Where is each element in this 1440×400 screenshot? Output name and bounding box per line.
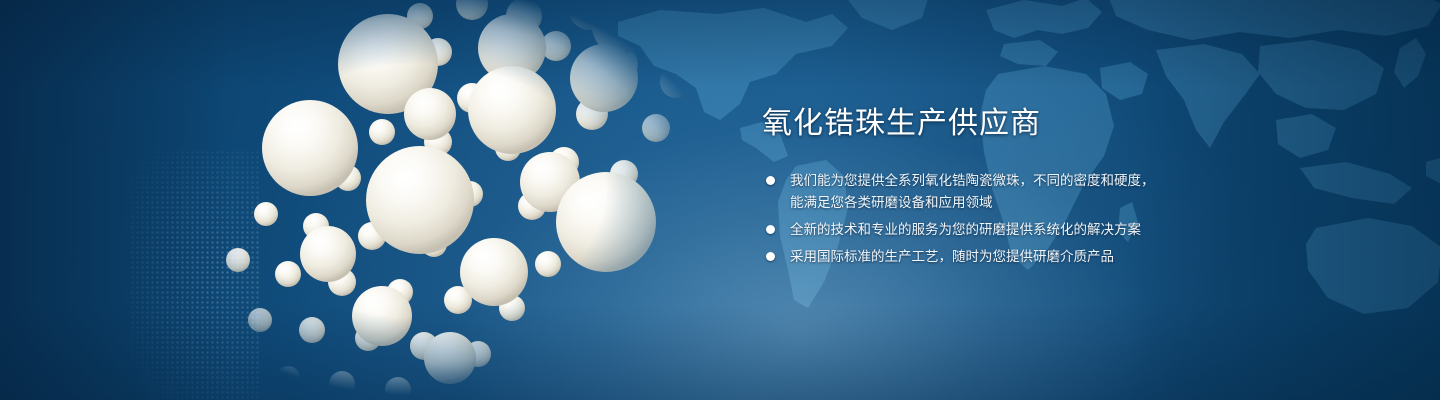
feature-line: 全新的技术和专业的服务为您的研磨提供系统化的解决方案 [790, 219, 1322, 241]
hero-banner: 氧化锆珠生产供应商 我们能为您提供全系列氧化锆陶瓷微珠，不同的密度和硬度， 能满… [0, 0, 1440, 400]
list-item: 我们能为您提供全系列氧化锆陶瓷微珠，不同的密度和硬度， 能满足您各类研磨设备和应… [762, 170, 1322, 214]
feature-line: 能满足您各类研磨设备和应用领域 [790, 192, 1322, 214]
page-title: 氧化锆珠生产供应商 [762, 104, 1322, 144]
feature-list: 我们能为您提供全系列氧化锆陶瓷微珠，不同的密度和硬度， 能满足您各类研磨设备和应… [762, 170, 1322, 268]
feature-line: 采用国际标准的生产工艺，随时为您提供研磨介质产品 [790, 246, 1322, 268]
zirconia-beads-photo [120, 0, 740, 400]
banner-copy: 氧化锆珠生产供应商 我们能为您提供全系列氧化锆陶瓷微珠，不同的密度和硬度， 能满… [762, 104, 1322, 273]
list-item: 采用国际标准的生产工艺，随时为您提供研磨介质产品 [762, 246, 1322, 268]
feature-line: 我们能为您提供全系列氧化锆陶瓷微珠，不同的密度和硬度， [790, 170, 1322, 192]
list-item: 全新的技术和专业的服务为您的研磨提供系统化的解决方案 [762, 219, 1322, 241]
